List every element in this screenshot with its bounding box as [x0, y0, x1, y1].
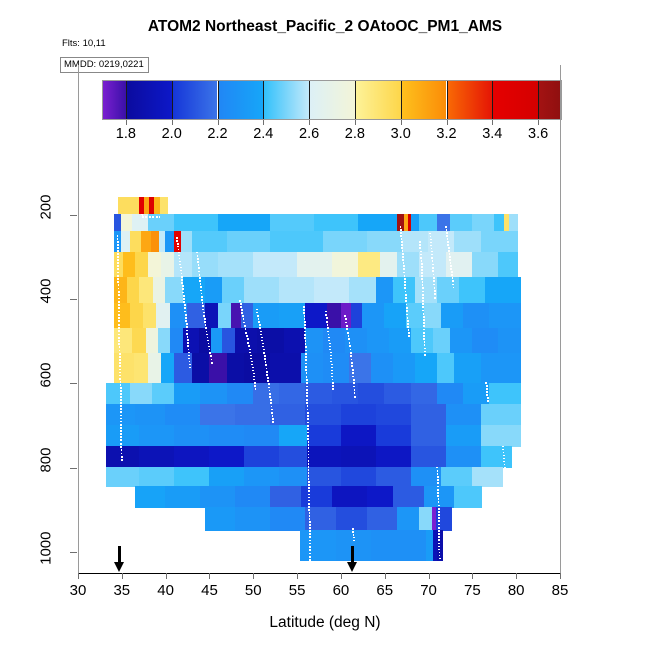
flight-track-dot [305, 359, 307, 361]
curtain-cell [114, 353, 134, 383]
flight-track-dot [505, 480, 507, 482]
flight-track-dot [434, 293, 436, 295]
flight-track-dot [251, 364, 253, 366]
flight-track-dot [402, 253, 404, 255]
flight-track-dot [268, 383, 270, 385]
flight-track-dot [187, 345, 189, 347]
x-axis-tick-label: 40 [157, 582, 174, 599]
flight-track-dot [401, 238, 403, 240]
flight-track-dot [309, 518, 311, 520]
flight-track-dot [326, 321, 328, 323]
flight-track-dot [307, 415, 309, 417]
flight-track-dot [243, 318, 245, 320]
flight-track-dot [431, 254, 433, 256]
x-axis-tick [385, 573, 386, 579]
curtain-cell [130, 383, 153, 405]
flight-track-dot [182, 288, 184, 290]
colorbar-divider [355, 81, 356, 119]
curtain-cell [218, 303, 232, 329]
flight-track-dot [450, 262, 452, 264]
flight-track-dot [205, 324, 207, 326]
flight-track-dot [207, 337, 209, 339]
colorbar: 1.82.02.22.42.62.83.03.23.43.6 [102, 80, 562, 122]
flight-track-dot [120, 421, 122, 423]
flight-track-dot [309, 546, 311, 548]
flight-track-dot [421, 266, 423, 268]
flight-track-dot [183, 301, 185, 303]
flight-track-dot [183, 295, 185, 297]
flight-track-dot [421, 260, 423, 262]
flight-track-dot [118, 311, 120, 313]
flight-track-dot [433, 274, 435, 276]
flight-track-dot [422, 284, 424, 286]
flight-track-dot [198, 271, 200, 273]
curtain-cell [305, 383, 332, 405]
flight-track-dot [186, 333, 188, 335]
flight-track-dot [264, 358, 266, 360]
x-axis-tick [429, 573, 430, 579]
flight-track-dot [419, 241, 421, 243]
flight-track-dot [120, 418, 122, 420]
curtain-cell [367, 231, 403, 253]
flight-track-dot [502, 446, 504, 448]
flight-track-dot [253, 376, 255, 378]
flight-track-dot [402, 259, 404, 261]
flight-track-dot [180, 270, 182, 272]
colorbar-tick [309, 120, 310, 125]
flight-track-dot [505, 477, 507, 479]
flight-track-dot [403, 268, 405, 270]
flight-track-dot [120, 393, 122, 395]
flight-track-dot [201, 296, 203, 298]
flight-track-dot [272, 415, 274, 417]
right-axis-line [560, 65, 561, 573]
colorbar-tick-labels: 1.82.02.22.42.62.83.03.23.43.6 [102, 126, 562, 146]
flight-track-dot [452, 277, 454, 279]
flight-track-dot [306, 389, 308, 391]
flight-track-dot [272, 421, 274, 423]
flight-track-dot [177, 243, 179, 245]
flight-track-dot [329, 346, 331, 348]
flight-track-dot [211, 359, 213, 361]
curtain-cell [227, 353, 245, 383]
flight-track-dot [245, 332, 247, 334]
flight-track-dot [400, 226, 402, 228]
flight-track-dot [249, 352, 251, 354]
flight-track-dot [351, 362, 353, 364]
curtain-cell [472, 214, 495, 232]
curtain-cell [161, 252, 175, 278]
flight-track-dot [120, 405, 122, 407]
flight-track-dot [328, 337, 330, 339]
curtain-cell [349, 277, 376, 303]
flight-track-dot [118, 320, 120, 322]
flight-track-dot [187, 339, 189, 341]
curtain-cell [218, 214, 271, 232]
curtain-cell [200, 383, 227, 405]
flight-track-dot [485, 382, 487, 384]
flight-track-dot [453, 287, 455, 289]
flight-track-dot [400, 232, 402, 234]
flight-track-dot [246, 335, 248, 337]
flight-track-dot [248, 345, 250, 347]
curtain-cell [307, 446, 341, 468]
flight-track-dot [439, 552, 441, 554]
flight-track-dot [181, 282, 183, 284]
flight-track-dot [306, 402, 308, 404]
flight-track-dot [186, 330, 188, 332]
flight-track-dot [330, 355, 332, 357]
flight-track-dot [149, 216, 151, 218]
flight-track-dot [183, 298, 185, 300]
flight-track-dot [119, 362, 121, 364]
flight-track-dot [247, 342, 249, 344]
curtain-cell [279, 277, 315, 303]
flight-track-dot [181, 273, 183, 275]
flight-track-dot [308, 500, 310, 502]
flight-track-dot [438, 546, 440, 548]
flight-track-dot [118, 317, 120, 319]
flight-track-dot [329, 349, 331, 351]
flight-track-dot [446, 235, 448, 237]
flight-track-dot [303, 309, 305, 311]
curtain-cell [174, 467, 210, 487]
colorbar-divider [218, 81, 219, 119]
flight-track-dot [308, 463, 310, 465]
curtain-cell [367, 507, 398, 531]
curtain-cell [411, 425, 447, 447]
curtain-cell [114, 303, 131, 329]
flight-track-dot [437, 492, 439, 494]
flight-track-dot [206, 334, 208, 336]
flight-track-dot [408, 329, 410, 331]
flight-track-dot [178, 249, 180, 251]
curtain-cell [200, 486, 236, 508]
flight-track-dot [439, 561, 441, 563]
flight-track-dot [332, 385, 334, 387]
curtain-cell [132, 328, 147, 354]
flight-track-dot [189, 364, 191, 366]
page-title: ATOM2 Northeast_Pacific_2 OAtoOC_PM1_AMS [0, 18, 650, 36]
flight-track-dot [308, 460, 310, 462]
flight-track-dot [207, 340, 209, 342]
flight-track-dot [400, 235, 402, 237]
y-axis-tick-label: 400 [38, 278, 55, 318]
flight-track-dot [182, 285, 184, 287]
curtain-cell [489, 383, 520, 405]
flight-track-dot [204, 321, 206, 323]
colorbar-tick-label: 2.8 [345, 126, 365, 142]
curtain-cell [183, 328, 200, 354]
curtain-cell [415, 353, 438, 383]
flight-track-dot [308, 454, 310, 456]
flight-track-dot [308, 481, 310, 483]
flight-track-dot [346, 328, 348, 330]
flight-track-dot [423, 319, 425, 321]
flight-track-dot [436, 467, 438, 469]
flight-track-dot [120, 411, 122, 413]
flight-track-dot [120, 408, 122, 410]
flight-track-dot [120, 381, 122, 383]
flight-track-dot [308, 447, 310, 449]
flight-track-dot [308, 494, 310, 496]
curtain-cell [106, 383, 131, 405]
flight-track-dot [261, 340, 263, 342]
colorbar-segment [218, 81, 264, 119]
flight-track-dot [503, 458, 505, 460]
curtain-cell [509, 214, 519, 232]
curtain-cell [376, 446, 412, 468]
flight-track-dot [349, 345, 351, 347]
flight-track-dot [309, 533, 311, 535]
curtain-cell [397, 507, 420, 531]
flight-track-dot [208, 346, 210, 348]
curtain-cell [139, 467, 175, 487]
flight-track-dot [407, 317, 409, 319]
flight-track-dot [118, 298, 120, 300]
flight-track-dot [422, 303, 424, 305]
curtain-cell [209, 446, 245, 468]
flight-track-dot [486, 385, 488, 387]
flight-track-dot [437, 486, 439, 488]
flight-track-dot [118, 288, 120, 290]
flight-track-dot [119, 350, 121, 352]
curtain-cell [341, 446, 377, 468]
flight-track-dot [200, 290, 202, 292]
flight-track-dot [423, 322, 425, 324]
flight-track-dot [205, 327, 207, 329]
flight-track-dot [438, 530, 440, 532]
flight-track-dot [446, 229, 448, 231]
flight-track-dot [405, 291, 407, 293]
flight-track-dot [422, 287, 424, 289]
flight-track-dot [201, 299, 203, 301]
flight-track-dot [419, 247, 421, 249]
flight-track-dot [420, 251, 422, 253]
flight-track-dot [119, 375, 121, 377]
flight-track-dot [304, 318, 306, 320]
flight-track-dot [307, 428, 309, 430]
flight-track-dot [405, 297, 407, 299]
flight-track-dot [308, 509, 310, 511]
flight-track-dot [431, 257, 433, 259]
colorbar-gradient [102, 80, 562, 120]
flight-track-dot [120, 446, 122, 448]
curtain-cell [244, 277, 280, 303]
curtain-cell [153, 277, 166, 303]
flight-track-dot [401, 244, 403, 246]
curtain-cell [114, 277, 127, 303]
flight-track-dot [331, 373, 333, 375]
curtain-cell [327, 303, 341, 329]
flight-track-dot [198, 264, 200, 266]
flight-track-dot [308, 490, 310, 492]
curtain-cell [314, 277, 350, 303]
curtain-cell [440, 507, 451, 531]
flight-track-dot [247, 338, 249, 340]
curtain-cell [161, 353, 175, 383]
x-axis-tick-label: 55 [289, 582, 306, 599]
curtain-cell [341, 467, 377, 487]
flight-track-dot [406, 310, 408, 312]
curtain-cell [305, 328, 323, 354]
profile-marker-1 [113, 546, 126, 572]
x-axis-tick-label: 30 [70, 582, 87, 599]
flight-track-dot [250, 358, 252, 360]
flight-track-dot [201, 293, 203, 295]
flight-track-dot [437, 479, 439, 481]
flight-track-dot [305, 353, 307, 355]
flight-track-dot [446, 232, 448, 234]
flight-track-dot [438, 549, 440, 551]
curtain-cell [305, 404, 341, 426]
flight-track-dot [408, 332, 410, 334]
flight-track-dot [309, 512, 311, 514]
flight-track-dot [504, 467, 506, 469]
flight-track-dot [449, 259, 451, 261]
curtain-cell [459, 277, 486, 303]
flight-track-dot [434, 297, 436, 299]
flight-track-dot [421, 275, 423, 277]
flight-track-dot [403, 265, 405, 267]
curtain-cell [134, 353, 149, 383]
flight-track-dot [486, 391, 488, 393]
flight-track-dot [178, 255, 180, 257]
curtain-cell [341, 404, 377, 426]
curtain-cell [139, 425, 175, 447]
curtain-cell [332, 486, 368, 508]
colorbar-segment [355, 81, 401, 119]
flight-track-dot [208, 343, 210, 345]
curtain-cell [218, 252, 254, 278]
flight-track-dot [309, 549, 311, 551]
flight-track-dot [118, 294, 120, 296]
flight-track-dot [420, 257, 422, 259]
flight-track-dot [210, 355, 212, 357]
flight-track-dot [117, 238, 119, 240]
colorbar-tick [492, 120, 493, 125]
flight-track-dot [266, 374, 268, 376]
flight-track-dot [269, 390, 271, 392]
flight-track-dot [437, 495, 439, 497]
x-axis-tick [122, 573, 123, 579]
flight-track-dot [327, 331, 329, 333]
colorbar-tick [172, 120, 173, 125]
flight-track-dot [403, 272, 405, 274]
curtain-cell [472, 328, 499, 354]
flight-track-dot [437, 489, 439, 491]
flight-track-dot [271, 406, 273, 408]
colorbar-segment [103, 81, 126, 119]
flight-track-dot [353, 379, 355, 381]
flight-track-dot [424, 354, 426, 356]
flight-track-dot [121, 459, 123, 461]
curtain-cell [279, 467, 308, 487]
flight-track-dot [198, 267, 200, 269]
flight-track-dot [424, 344, 426, 346]
colorbar-tick-label: 2.4 [253, 126, 273, 142]
curtain-cell [205, 507, 236, 531]
colorbar-segment [263, 81, 309, 119]
flight-track-dot [184, 304, 186, 306]
curtain-cell [106, 425, 140, 447]
curtain-cell [148, 252, 162, 278]
flight-track-dot [423, 329, 425, 331]
flight-track-dot [118, 284, 120, 286]
flight-track-dot [433, 280, 435, 282]
curtain-cell [307, 467, 341, 487]
y-axis-tick [70, 552, 77, 553]
curtain-cell [270, 507, 306, 531]
flight-track-dot [423, 332, 425, 334]
flight-track-dot [503, 461, 505, 463]
colorbar-tick-label: 3.2 [436, 126, 456, 142]
flight-track-dot [271, 409, 273, 411]
flight-track-dot [200, 283, 202, 285]
flight-track-dot [437, 470, 439, 472]
flight-track-dot [350, 349, 352, 351]
flight-track-dot [326, 317, 328, 319]
y-axis-tick-label: 600 [38, 363, 55, 403]
flight-track-dot [240, 303, 242, 305]
flight-track-dot [251, 361, 253, 363]
flight-track-dot [306, 395, 308, 397]
flight-track-dot [432, 270, 434, 272]
flight-track-dot [305, 363, 307, 365]
flight-track-dot [304, 327, 306, 329]
flight-track-dot [307, 432, 309, 434]
curtain-cell [152, 383, 175, 405]
curtain-cell [371, 530, 402, 560]
curtain-cells [78, 185, 560, 573]
colorbar-divider [447, 81, 448, 119]
flight-track-dot [117, 241, 119, 243]
curtain-cell [358, 214, 398, 232]
x-axis-label: Latitude (deg N) [0, 614, 650, 632]
curtain-cell [472, 252, 499, 278]
flight-track-dot [423, 338, 425, 340]
flight-track-dot [180, 267, 182, 269]
curtain-cell [270, 231, 323, 253]
curtain-cell [441, 303, 464, 329]
flight-track-dot [260, 334, 262, 336]
flight-track-dot [189, 367, 191, 369]
curtain-cell [402, 530, 427, 560]
flight-track-dot [331, 364, 333, 366]
flight-track-dot [407, 326, 409, 328]
curtain-cell [123, 252, 135, 278]
curtain-cell [454, 353, 481, 383]
flight-track-dot [239, 300, 241, 302]
flight-track-dot [345, 322, 347, 324]
flight-track-dot [438, 517, 440, 519]
x-axis-tick-label: 85 [552, 582, 569, 599]
flight-track-dot [438, 514, 440, 516]
y-axis-tick [70, 468, 77, 469]
flight-track-dot [119, 359, 121, 361]
curtain-cell [376, 467, 412, 487]
flight-track-dot [265, 361, 267, 363]
flight-track-dot [188, 358, 190, 360]
curtain-cell [450, 214, 473, 232]
flight-track-dot [308, 444, 310, 446]
colorbar-divider [492, 81, 493, 119]
curtain-cell [270, 404, 306, 426]
flight-track-dot [429, 233, 431, 235]
flight-track-dot [304, 315, 306, 317]
flight-track-dot [451, 271, 453, 273]
flight-track-dot [186, 323, 188, 325]
